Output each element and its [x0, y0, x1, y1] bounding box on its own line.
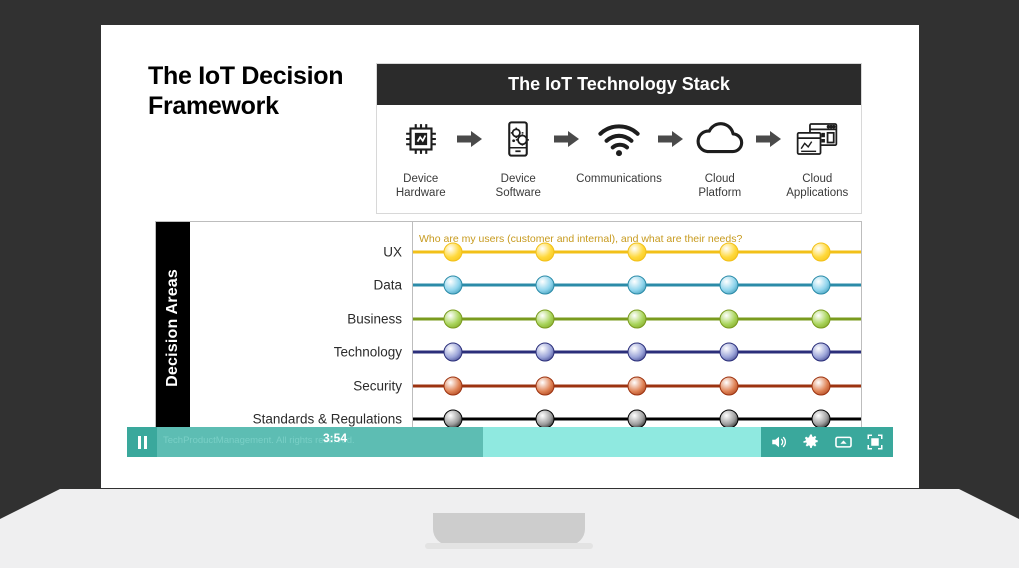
- matrix-node[interactable]: [811, 309, 830, 328]
- matrix-row-label: Standards & Regulations: [253, 412, 402, 427]
- stack-item-label: CloudPlatform: [698, 172, 741, 201]
- bezel-corner-right: [959, 489, 1019, 519]
- matrix-row-label: UX: [383, 245, 402, 260]
- monitor-stand: [433, 513, 585, 545]
- settings-gear-icon[interactable]: [801, 432, 821, 452]
- matrix-node[interactable]: [628, 376, 647, 395]
- stack-item-label: Communications: [576, 172, 662, 186]
- matrix-node[interactable]: [536, 276, 555, 295]
- matrix-row-labels: UXDataBusinessTechnologySecurityStandard…: [190, 222, 413, 433]
- stack-item-cloud-applications: CloudApplications: [782, 115, 854, 201]
- wifi-icon: [596, 115, 642, 163]
- matrix-node[interactable]: [811, 376, 830, 395]
- matrix-node[interactable]: [628, 243, 647, 262]
- pause-bar-right: [144, 436, 147, 449]
- matrix-node[interactable]: [811, 243, 830, 262]
- decision-areas-label: Decision Areas: [164, 269, 182, 387]
- technology-stack-header: The IoT Technology Stack: [377, 64, 861, 105]
- matrix-node[interactable]: [628, 276, 647, 295]
- matrix-node[interactable]: [628, 309, 647, 328]
- video-player-bar[interactable]: TechProductManagement. All rights reserv…: [127, 427, 893, 457]
- slide-canvas: The IoT Decision Framework The IoT Techn…: [101, 25, 919, 488]
- matrix-node[interactable]: [536, 410, 555, 429]
- matrix-node[interactable]: [811, 343, 830, 362]
- matrix-node[interactable]: [444, 343, 463, 362]
- stack-item-cloud-platform: CloudPlatform: [684, 115, 756, 201]
- fullscreen-icon[interactable]: [865, 432, 885, 452]
- matrix-node[interactable]: [536, 343, 555, 362]
- stack-item-device-hardware: DeviceHardware: [385, 115, 457, 201]
- volume-icon[interactable]: [769, 432, 789, 452]
- monitor-stand-base: [425, 543, 593, 549]
- matrix-node[interactable]: [536, 309, 555, 328]
- pause-button[interactable]: [127, 427, 157, 457]
- player-controls[interactable]: [761, 427, 893, 457]
- arrow-right-icon: [658, 115, 684, 163]
- matrix-node[interactable]: [719, 410, 738, 429]
- matrix-node[interactable]: [719, 343, 738, 362]
- matrix-node[interactable]: [444, 276, 463, 295]
- matrix-node[interactable]: [719, 376, 738, 395]
- matrix-annotation: Who are my users (customer and internal)…: [419, 233, 742, 245]
- monitor-screen: The IoT Decision Framework The IoT Techn…: [101, 25, 919, 488]
- scene: The IoT Decision Framework The IoT Techn…: [0, 0, 1019, 568]
- matrix-node[interactable]: [719, 243, 738, 262]
- cast-icon[interactable]: [833, 432, 853, 452]
- stack-item-label: CloudApplications: [786, 172, 848, 201]
- stack-item-communications: Communications: [580, 115, 658, 186]
- page-title: The IoT Decision Framework: [148, 62, 378, 121]
- matrix-node[interactable]: [536, 376, 555, 395]
- decision-matrix: Decision Areas UXDataBusinessTechnologyS…: [155, 221, 862, 434]
- stack-item-device-software: DeviceSoftware: [483, 115, 555, 201]
- matrix-node[interactable]: [444, 243, 463, 262]
- matrix-plot-area: Who are my users (customer and internal)…: [413, 222, 861, 433]
- browser-windows-icon: [795, 115, 839, 163]
- technology-stack-panel: The IoT Technology Stack DeviceHardware …: [376, 63, 862, 214]
- matrix-row-label: Business: [347, 311, 402, 326]
- matrix-node[interactable]: [628, 343, 647, 362]
- stack-item-label: DeviceHardware: [396, 172, 446, 201]
- arrow-right-icon: [457, 115, 483, 163]
- stack-item-label: DeviceSoftware: [496, 172, 541, 201]
- matrix-node[interactable]: [628, 410, 647, 429]
- matrix-node[interactable]: [719, 309, 738, 328]
- video-progress-filled[interactable]: TechProductManagement. All rights reserv…: [127, 427, 483, 457]
- matrix-node[interactable]: [444, 376, 463, 395]
- matrix-node[interactable]: [811, 276, 830, 295]
- video-time-label: 3:54: [323, 431, 347, 445]
- arrow-right-icon: [756, 115, 782, 163]
- matrix-node[interactable]: [811, 410, 830, 429]
- bezel-corner-left: [0, 489, 60, 519]
- matrix-node[interactable]: [719, 276, 738, 295]
- pause-bar-left: [138, 436, 141, 449]
- matrix-node[interactable]: [536, 243, 555, 262]
- matrix-row-label: Security: [353, 378, 402, 393]
- decision-areas-sidebar: Decision Areas: [156, 222, 190, 433]
- matrix-row-label: Technology: [334, 345, 402, 360]
- cloud-icon: [694, 115, 746, 163]
- tablet-gears-icon: [497, 115, 539, 163]
- technology-stack-row: DeviceHardware DeviceSoftware Communicat…: [377, 105, 861, 201]
- arrow-right-icon: [554, 115, 580, 163]
- matrix-node[interactable]: [444, 410, 463, 429]
- matrix-node[interactable]: [444, 309, 463, 328]
- matrix-row-label: Data: [373, 278, 402, 293]
- chip-icon: [400, 115, 442, 163]
